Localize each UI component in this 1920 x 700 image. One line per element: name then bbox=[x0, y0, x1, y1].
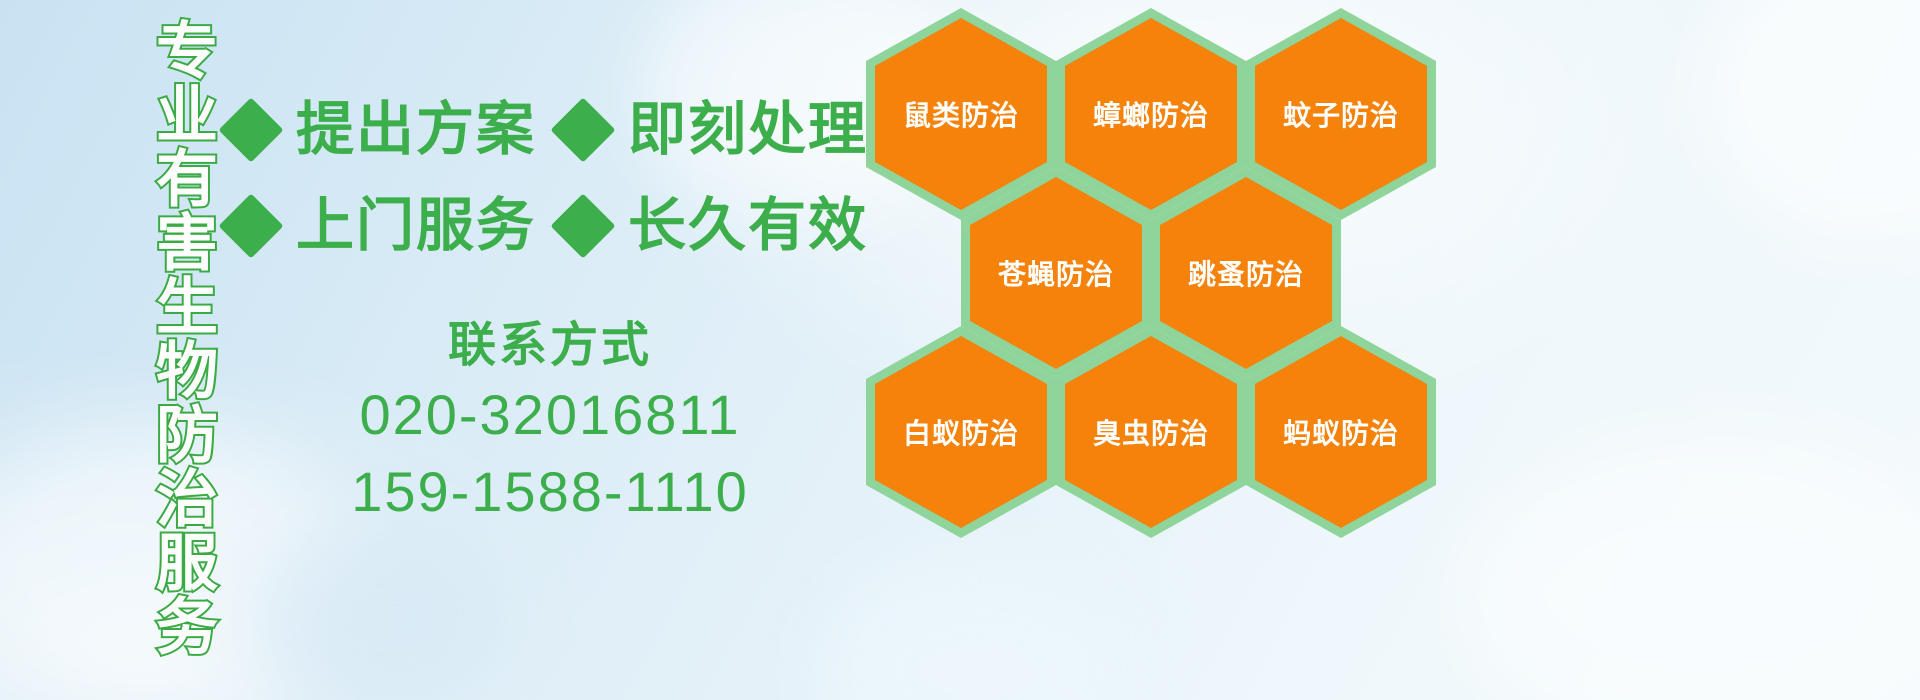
background-blob bbox=[250, 520, 510, 700]
hex-inner: 鼠类防治 bbox=[875, 18, 1047, 210]
hex-inner: 跳蚤防治 bbox=[1160, 177, 1332, 369]
contact-block: 联系方式 020-32016811 159-1588-1110 bbox=[300, 316, 800, 531]
slogan-label: 提出方案 bbox=[296, 101, 536, 159]
slogan-row: 提出方案 即刻处理 bbox=[228, 82, 858, 178]
diamond-icon bbox=[550, 97, 615, 162]
hex-label: 跳蚤防治 bbox=[1188, 253, 1304, 293]
hex-inner: 臭虫防治 bbox=[1065, 336, 1237, 528]
hex-inner: 苍蝇防治 bbox=[970, 177, 1142, 369]
hex-label: 蚊子防治 bbox=[1283, 94, 1399, 134]
phone-number-landline[interactable]: 020-32016811 bbox=[300, 376, 800, 453]
vertical-headline: 专业有害生物防治服务 bbox=[108, 18, 212, 658]
slogan-row: 上门服务 长久有效 bbox=[228, 178, 858, 274]
hex-label: 臭虫防治 bbox=[1093, 412, 1209, 452]
slogan-label: 上门服务 bbox=[296, 197, 536, 255]
hex-label: 蟑螂防治 bbox=[1093, 94, 1209, 134]
slogan-item: 长久有效 bbox=[560, 197, 868, 255]
slogan-item: 提出方案 bbox=[228, 101, 536, 159]
phone-number-mobile[interactable]: 159-1588-1110 bbox=[300, 453, 800, 530]
diamond-icon bbox=[218, 97, 283, 162]
slogan-label: 即刻处理 bbox=[628, 101, 868, 159]
hex-label: 蚂蚁防治 bbox=[1283, 412, 1399, 452]
hex-inner: 白蚁防治 bbox=[875, 336, 1047, 528]
hex-label: 苍蝇防治 bbox=[998, 253, 1114, 293]
hex-inner: 蚂蚁防治 bbox=[1255, 336, 1427, 528]
background-blob bbox=[1450, 430, 1920, 700]
hex-label: 鼠类防治 bbox=[903, 94, 1019, 134]
hex-label: 白蚁防治 bbox=[903, 412, 1019, 452]
slogan-item: 即刻处理 bbox=[560, 101, 868, 159]
contact-heading: 联系方式 bbox=[300, 316, 800, 376]
slogan-block: 提出方案 即刻处理 上门服务 长久有效 bbox=[228, 82, 858, 274]
hex-inner: 蚊子防治 bbox=[1255, 18, 1427, 210]
hex-inner: 蟑螂防治 bbox=[1065, 18, 1237, 210]
service-honeycomb: 鼠类防治 蟑螂防治 蚊子防治 苍蝇防治 跳蚤防治 白蚁防治 bbox=[860, 0, 1460, 570]
slogan-label: 长久有效 bbox=[628, 197, 868, 255]
diamond-icon bbox=[550, 193, 615, 258]
banner-canvas: 专业有害生物防治服务 提出方案 即刻处理 上门服务 长久有效 bbox=[0, 0, 1920, 700]
diamond-icon bbox=[218, 193, 283, 258]
slogan-item: 上门服务 bbox=[228, 197, 536, 255]
background-blob bbox=[1700, 0, 1920, 240]
background-blob bbox=[820, 560, 1120, 700]
